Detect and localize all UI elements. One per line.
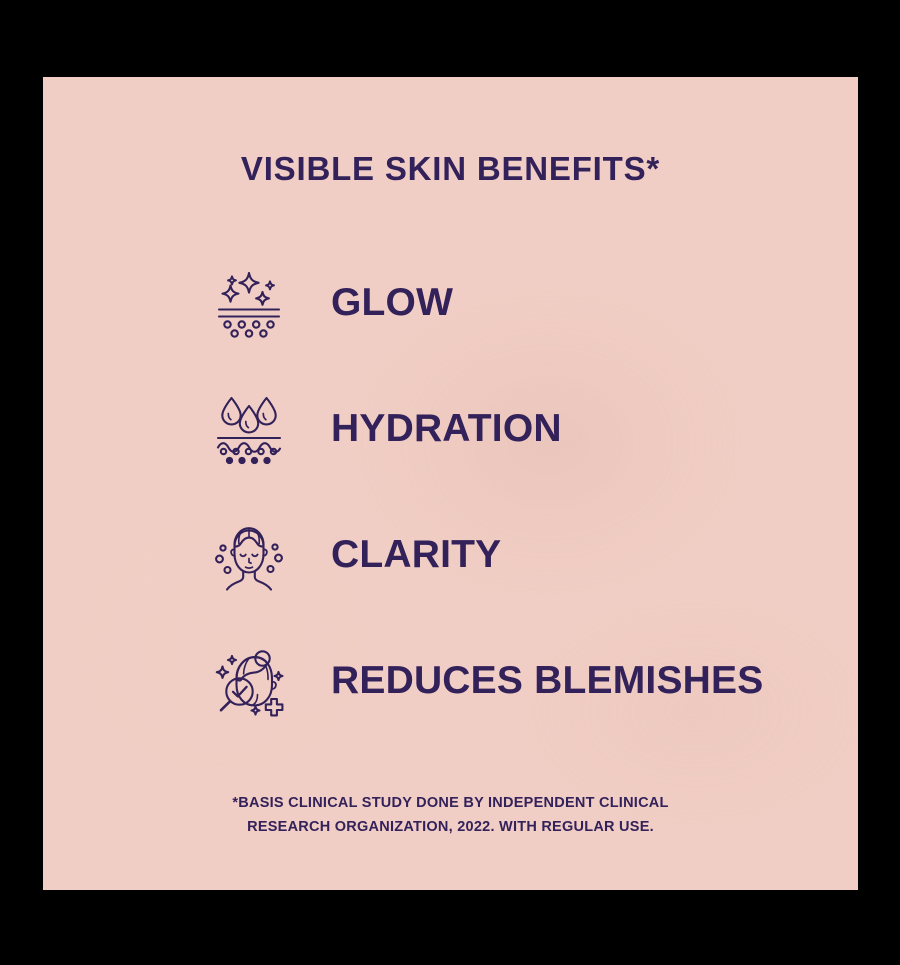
skin-sparkle-glow-icon <box>210 264 288 342</box>
screenshot-canvas: VISIBLE SKIN BENEFITS* <box>0 0 900 965</box>
benefit-label: HYDRATION <box>331 407 562 451</box>
benefit-item-hydration: HYDRATION <box>43 366 858 492</box>
benefit-label: REDUCES BLEMISHES <box>331 659 763 703</box>
footnote-line-1: *BASIS CLINICAL STUDY DONE BY INDEPENDEN… <box>43 792 858 816</box>
visible-skin-benefits-panel: VISIBLE SKIN BENEFITS* <box>43 77 858 890</box>
benefit-label: CLARITY <box>331 533 501 577</box>
benefit-item-reduces-blemishes: REDUCES BLEMISHES <box>43 618 858 744</box>
benefit-item-glow: GLOW <box>43 240 858 366</box>
footnote-disclaimer: *BASIS CLINICAL STUDY DONE BY INDEPENDEN… <box>43 792 858 840</box>
footnote-line-2: RESEARCH ORGANIZATION, 2022. WITH REGULA… <box>43 816 858 840</box>
face-magnifier-check-blemishes-icon <box>210 642 288 720</box>
face-towel-wrap-clarity-icon <box>210 516 288 594</box>
benefit-item-clarity: CLARITY <box>43 492 858 618</box>
benefit-label: GLOW <box>331 281 453 325</box>
page-title: VISIBLE SKIN BENEFITS* <box>43 150 858 188</box>
benefits-list: GLOW <box>43 240 858 744</box>
water-droplets-hydration-icon <box>210 390 288 468</box>
